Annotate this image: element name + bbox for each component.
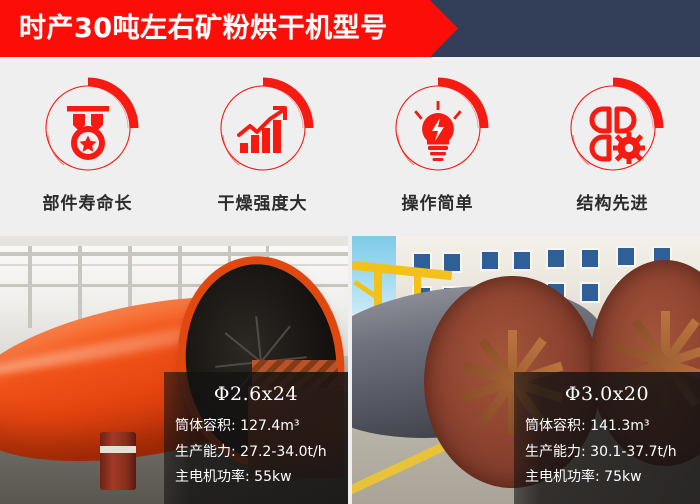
feature-item-easy-operation[interactable]: 操作简单: [350, 57, 525, 236]
caption-power: 主电机功率: 55kw: [164, 465, 292, 491]
caption-capacity: 生产能力: 27.2-34.0t/h: [164, 440, 327, 466]
caption-volume: 筒体容积: 141.3m³: [514, 414, 650, 440]
feature-item-advanced-structure[interactable]: 结构先进: [525, 57, 700, 236]
page-title: 时产30吨左右矿粉烘干机型号: [0, 15, 388, 42]
feature-label: 操作简单: [402, 189, 474, 214]
title-banner: 时产30吨左右矿粉烘干机型号: [0, 0, 458, 57]
feature-item-drying-intensity[interactable]: 干燥强度大: [175, 57, 350, 236]
feature-label: 结构先进: [577, 189, 649, 214]
caption-capacity: 生产能力: 30.1-37.7t/h: [514, 440, 677, 466]
feature-list: 部件寿命长 干燥强度大: [0, 57, 700, 236]
feature-label: 干燥强度大: [218, 189, 308, 214]
feature-item-durability[interactable]: 部件寿命长: [0, 57, 175, 236]
caption-model: Φ3.0x20: [565, 383, 649, 405]
medal-icon: [34, 73, 142, 181]
photo-caption-left: Φ2.6x24 筒体容积: 127.4m³ 生产能力: 27.2-34.0t/h…: [164, 372, 348, 504]
light-bulb-icon: [384, 73, 492, 181]
petals-gear-icon: [559, 73, 667, 181]
page-header: 时产30吨左右矿粉烘干机型号: [0, 0, 700, 57]
caption-power: 主电机功率: 75kw: [514, 465, 642, 491]
photo-gallery: Φ2.6x24 筒体容积: 127.4m³ 生产能力: 27.2-34.0t/h…: [0, 236, 700, 504]
promo-page: 时产30吨左右矿粉烘干机型号 部件寿命长: [0, 0, 700, 504]
caption-model: Φ2.6x24: [214, 383, 298, 405]
photo-caption-right: Φ3.0x20 筒体容积: 141.3m³ 生产能力: 30.1-37.7t/h…: [514, 372, 700, 504]
photo-dryer-steel[interactable]: Φ3.0x20 筒体容积: 141.3m³ 生产能力: 30.1-37.7t/h…: [352, 236, 700, 504]
photo-dryer-orange[interactable]: Φ2.6x24 筒体容积: 127.4m³ 生产能力: 27.2-34.0t/h…: [0, 236, 348, 504]
steel-barrel: [100, 432, 136, 490]
bar-chart-growth-icon: [209, 73, 317, 181]
caption-volume: 筒体容积: 127.4m³: [164, 414, 300, 440]
feature-label: 部件寿命长: [43, 189, 133, 214]
